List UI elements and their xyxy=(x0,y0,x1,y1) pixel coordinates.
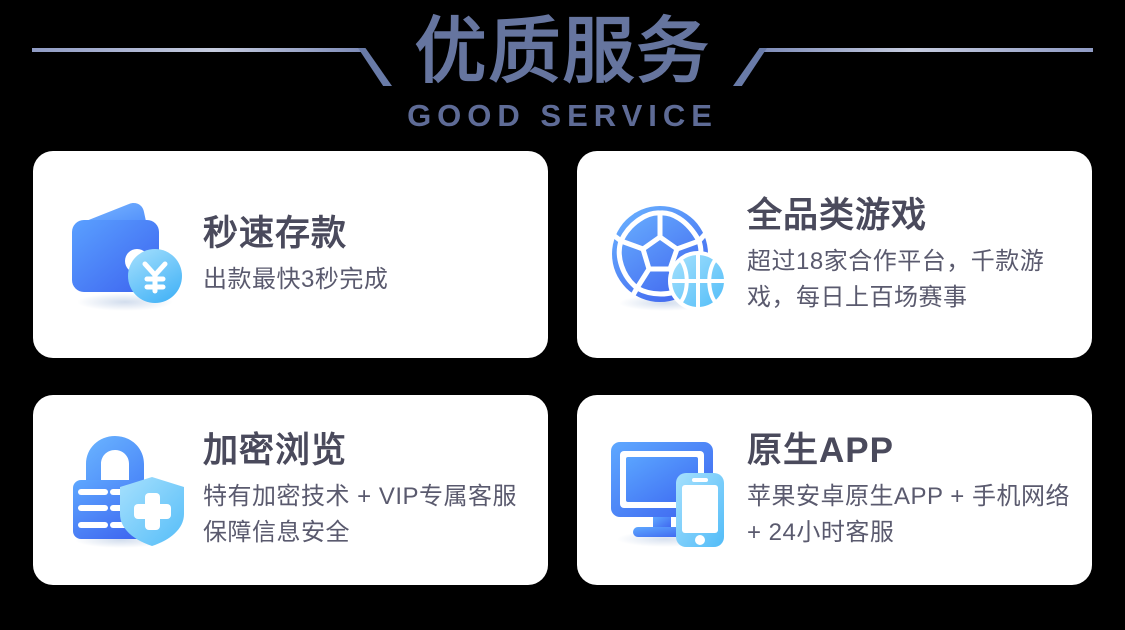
feature-card-text: 加密浏览 特有加密技术 + VIP专属客服保障信息安全 xyxy=(203,429,528,551)
feature-card-title: 全品类游戏 xyxy=(747,194,1072,238)
feature-card-text: 秒速存款 出款最快3秒完成 xyxy=(203,212,528,298)
feature-card-desc: 苹果安卓原生APP + 手机网络 + 24小时客服 xyxy=(747,479,1072,551)
feature-card-desc: 出款最快3秒完成 xyxy=(203,262,528,298)
feature-card-title: 加密浏览 xyxy=(203,429,528,473)
feature-card-games[interactable]: 全品类游戏 超过18家合作平台，千款游戏，每日上百场赛事 xyxy=(577,151,1092,358)
feature-card-desc: 超过18家合作平台，千款游戏，每日上百场赛事 xyxy=(747,244,1072,316)
feature-card-encryption[interactable]: 加密浏览 特有加密技术 + VIP专属客服保障信息安全 xyxy=(33,395,548,585)
feature-card-native-app[interactable]: 原生APP 苹果安卓原生APP + 手机网络 + 24小时客服 xyxy=(577,395,1092,585)
feature-card-desc: 特有加密技术 + VIP专属客服保障信息安全 xyxy=(203,479,528,551)
monitor-phone-icon xyxy=(603,430,735,550)
page-title: 优质服务 xyxy=(0,10,1125,94)
lock-shield-icon xyxy=(59,430,191,550)
feature-card-deposit[interactable]: 秒速存款 出款最快3秒完成 xyxy=(33,151,548,358)
feature-card-title: 秒速存款 xyxy=(203,212,528,256)
feature-card-grid: 秒速存款 出款最快3秒完成 xyxy=(33,151,1092,585)
promo-banner: 优质服务 GOOD SERVICE xyxy=(0,0,1125,630)
feature-card-title: 原生APP xyxy=(747,429,1072,473)
wallet-yen-icon xyxy=(59,195,191,315)
page-subtitle: GOOD SERVICE xyxy=(0,98,1125,134)
feature-card-text: 原生APP 苹果安卓原生APP + 手机网络 + 24小时客服 xyxy=(747,429,1072,551)
banner-header: 优质服务 GOOD SERVICE xyxy=(0,0,1125,146)
feature-card-text: 全品类游戏 超过18家合作平台，千款游戏，每日上百场赛事 xyxy=(747,194,1072,316)
soccer-basketball-icon xyxy=(603,195,735,315)
